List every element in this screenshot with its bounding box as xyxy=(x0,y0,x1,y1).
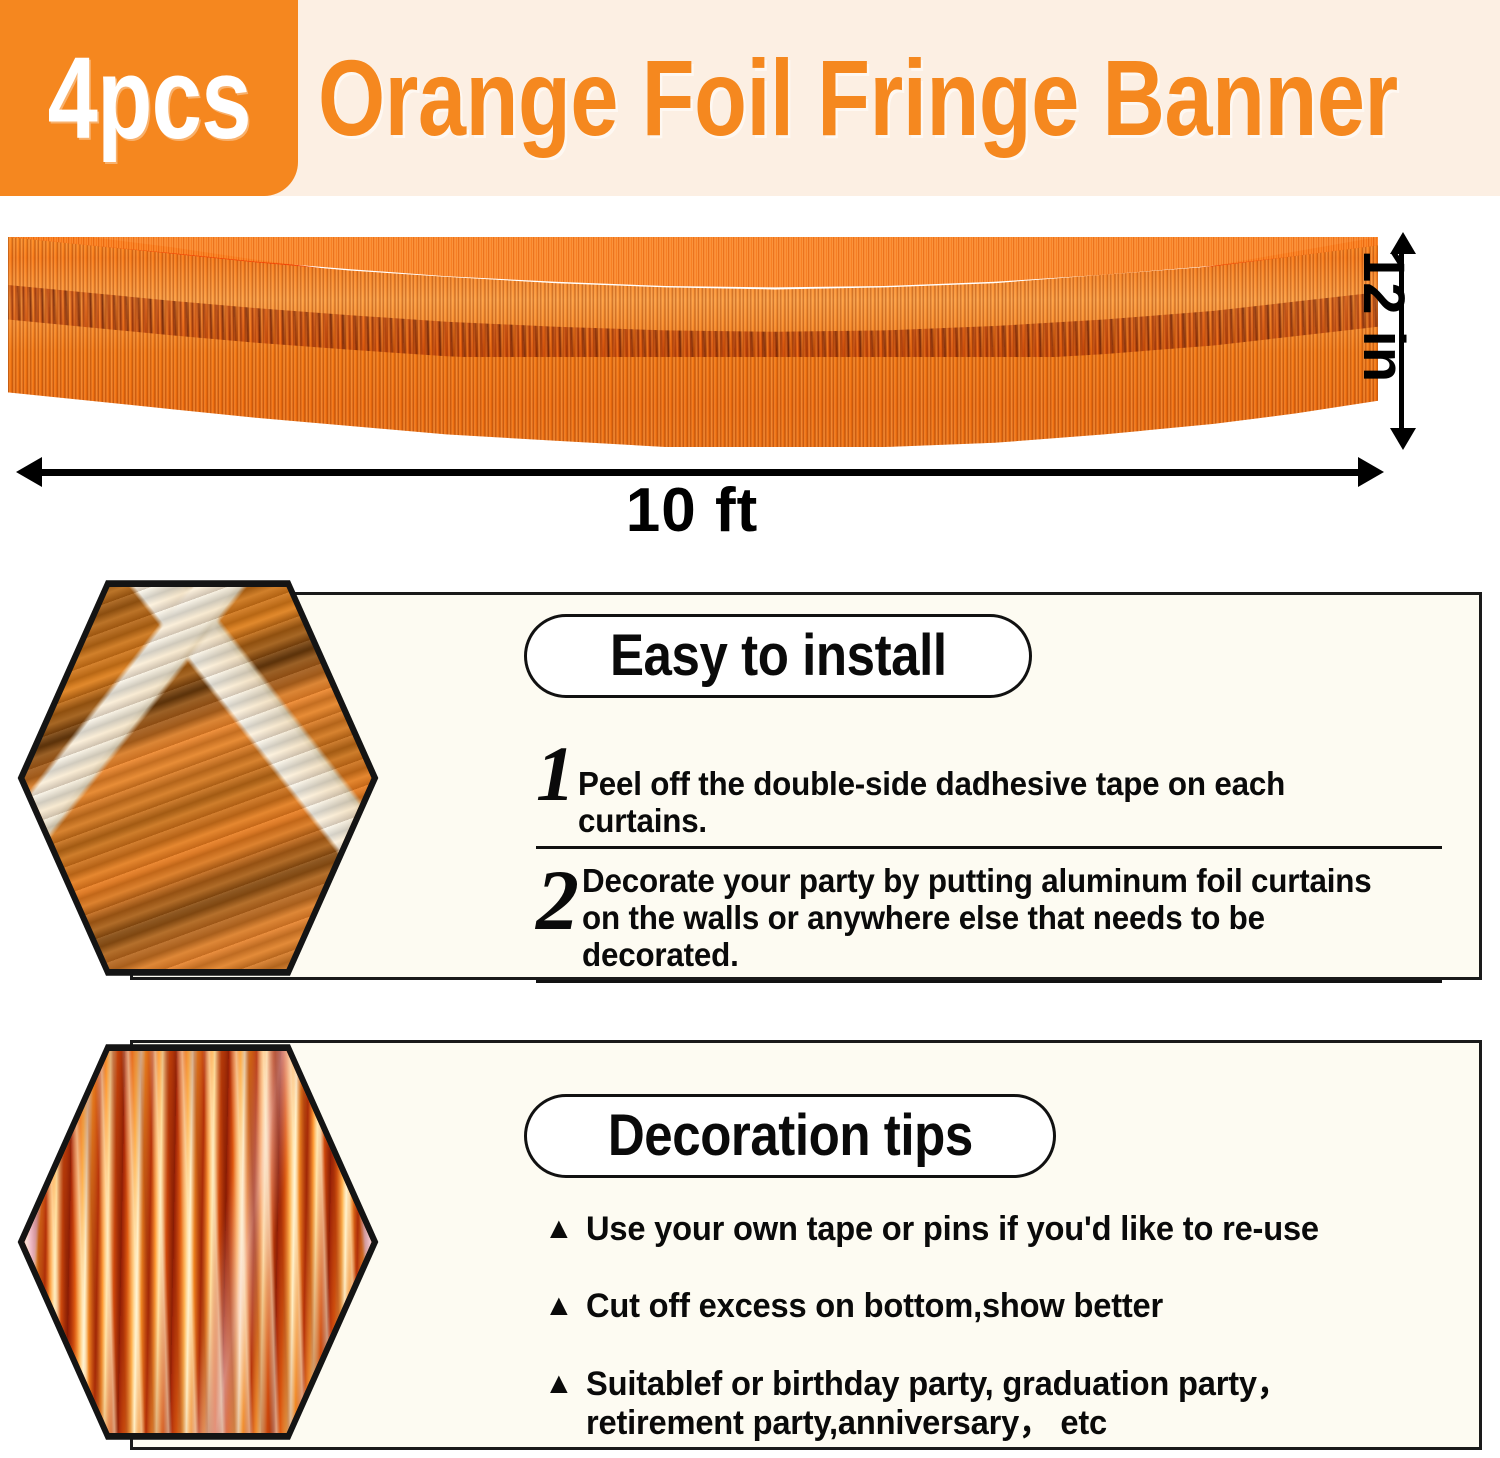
step-number: 1 xyxy=(536,740,575,809)
tips-list: ▲ Use your own tape or pins if you'd lik… xyxy=(544,1210,1464,1444)
install-section-title-badge: Easy to install xyxy=(524,614,1032,698)
step-text: Peel off the double-side dadhesive tape … xyxy=(578,752,1399,840)
foil-fringe-photo xyxy=(21,1043,375,1441)
triangle-bullet-icon: ▲ xyxy=(544,1287,574,1321)
install-photo-hexagon xyxy=(14,572,382,984)
hexagon-photo-clip xyxy=(21,1043,375,1441)
tip-item: ▲ Cut off excess on bottom,show better xyxy=(544,1287,1464,1326)
step-text: Decorate your party by putting aluminum … xyxy=(582,861,1399,974)
tips-photo-hexagon xyxy=(14,1036,382,1448)
hexagon-photo-clip xyxy=(21,579,375,977)
tips-section-title-badge: Decoration tips xyxy=(524,1094,1056,1178)
width-dimension-label: 10 ft xyxy=(0,480,1384,542)
page-title-label: Orange Foil Fringe Banner xyxy=(318,44,1398,152)
tip-text: Use your own tape or pins if you'd like … xyxy=(586,1210,1319,1249)
tips-section-title-label: Decoration tips xyxy=(608,1107,973,1165)
triangle-bullet-icon: ▲ xyxy=(544,1210,574,1244)
tip-item: ▲ Suitablef or birthday party, graduatio… xyxy=(544,1365,1464,1444)
install-steps-list: 1 Peel off the double-side dadhesive tap… xyxy=(536,752,1442,983)
step-number: 2 xyxy=(536,863,579,939)
page-header: 4pcs Orange Foil Fringe Banner xyxy=(0,0,1500,196)
height-dimension-label: 12 in xyxy=(1354,250,1412,440)
install-step: 2 Decorate your party by putting aluminu… xyxy=(536,861,1442,983)
page-title: Orange Foil Fringe Banner xyxy=(318,28,1488,168)
dimension-line xyxy=(36,469,1364,476)
tip-text: Suitablef or birthday party, graduation … xyxy=(586,1365,1429,1444)
adhesive-tape-photo xyxy=(21,579,375,977)
hero-product-photo xyxy=(0,225,1390,460)
quantity-badge-label: 4pcs xyxy=(47,40,250,156)
quantity-badge: 4pcs xyxy=(0,0,298,196)
install-section-title-label: Easy to install xyxy=(610,627,947,685)
triangle-bullet-icon: ▲ xyxy=(544,1365,574,1399)
tip-item: ▲ Use your own tape or pins if you'd lik… xyxy=(544,1210,1464,1249)
tip-text: Cut off excess on bottom,show better xyxy=(586,1287,1163,1326)
install-step: 1 Peel off the double-side dadhesive tap… xyxy=(536,752,1442,849)
